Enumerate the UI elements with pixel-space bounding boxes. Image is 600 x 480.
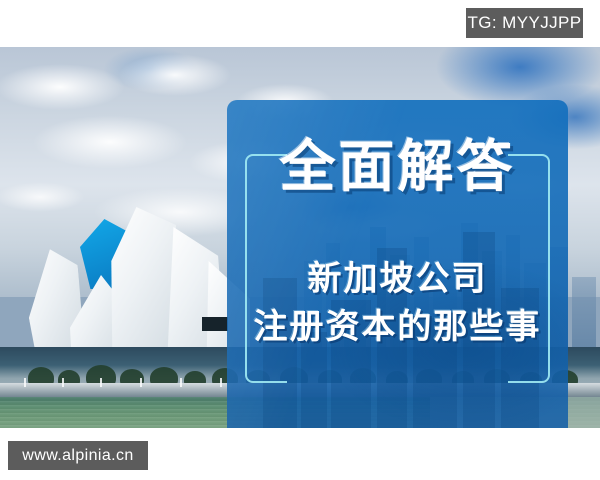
poster-image: 全面解答 新加坡公司 注册资本的那些事 @小源秘书在线 <box>0 47 600 428</box>
text-panel: 全面解答 新加坡公司 注册资本的那些事 <box>227 100 568 428</box>
poster-headline: 全面解答 <box>227 140 568 196</box>
poster-subtitle-line-1: 新加坡公司 <box>227 255 568 303</box>
page-canvas: 全面解答 新加坡公司 注册资本的那些事 @小源秘书在线 TG: MYYJJPP … <box>0 0 600 480</box>
poster-subtitle: 新加坡公司 注册资本的那些事 <box>227 255 568 352</box>
poster-subtitle-line-2: 注册资本的那些事 <box>227 303 568 351</box>
website-badge: www.alpinia.cn <box>8 441 148 470</box>
telegram-badge: TG: MYYJJPP <box>466 8 583 38</box>
